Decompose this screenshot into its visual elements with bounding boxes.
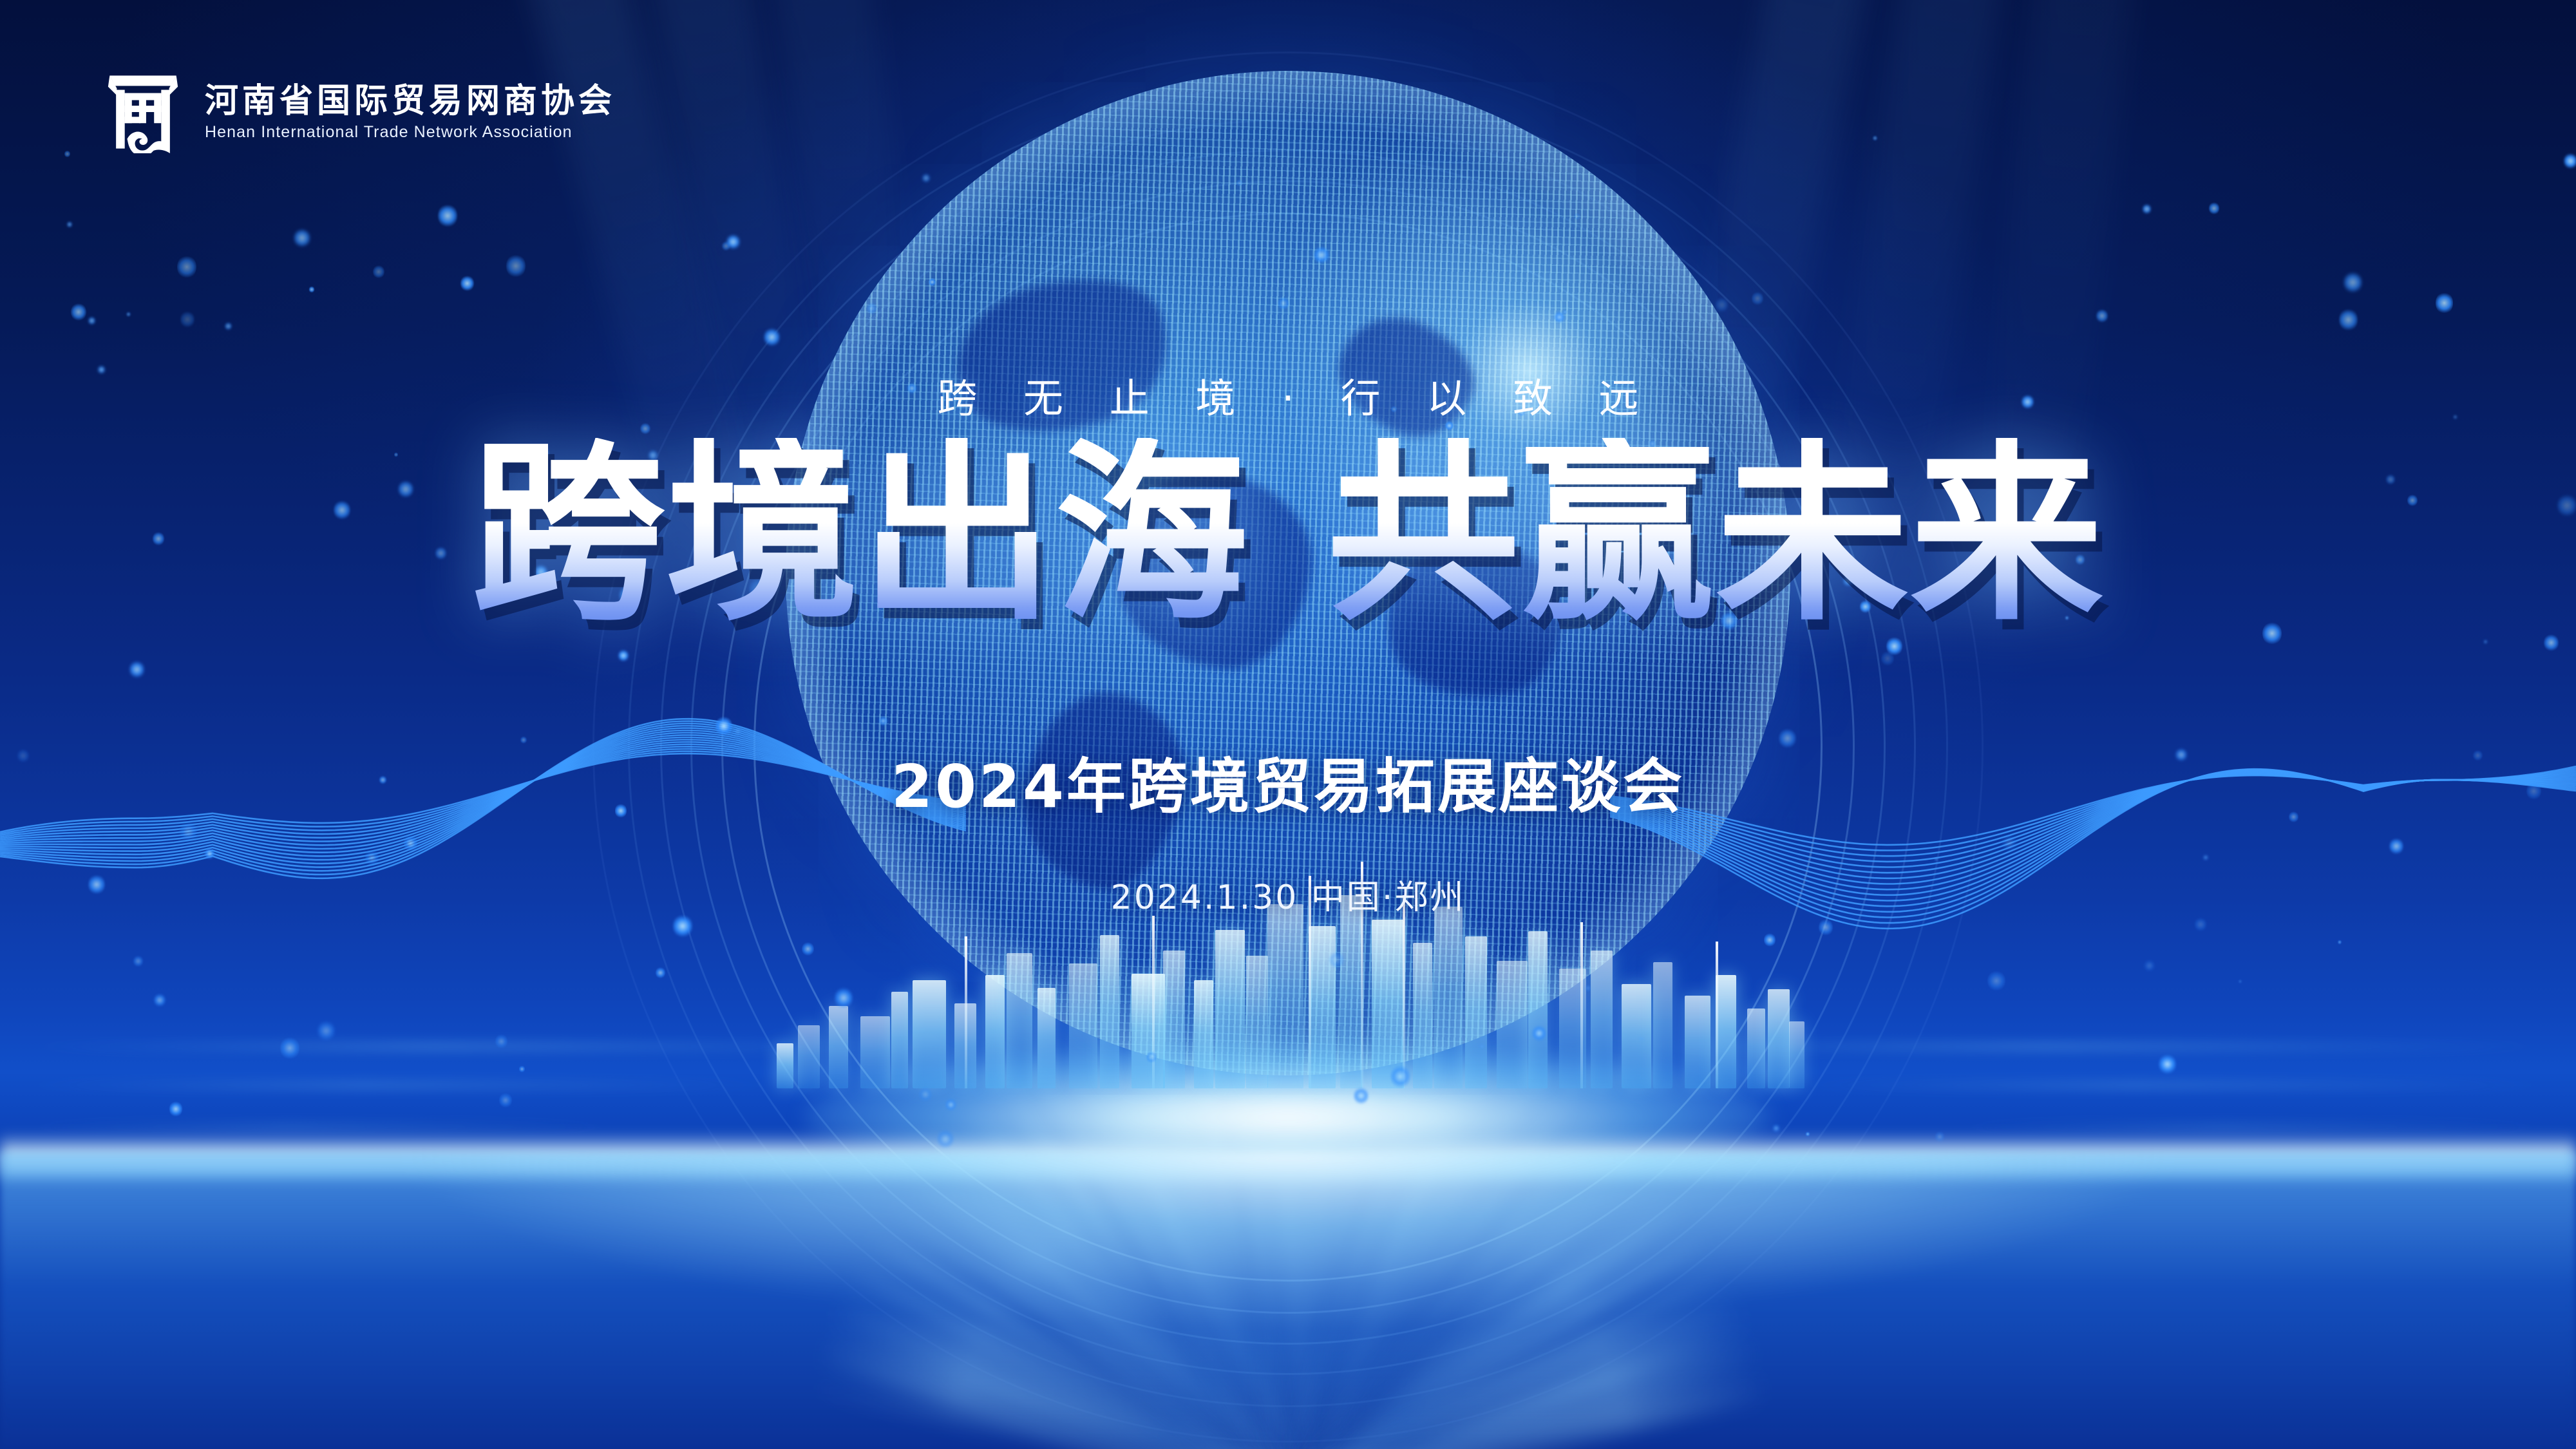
bokeh-particle [1532, 1025, 1546, 1042]
bokeh-particle [1779, 728, 1796, 749]
bokeh-particle [294, 228, 310, 249]
light-streak [1932, 1124, 2576, 1130]
logo-name-en: Henan International Trade Network Associ… [205, 124, 616, 140]
headline-part-1: 跨境出海 [471, 438, 1249, 631]
bokeh-particle [225, 322, 231, 330]
orbit-ring [660, 119, 1916, 1375]
logo-text-block: 河南省国际贸易网商协会 Henan International Trade Ne… [205, 84, 616, 140]
bokeh-particle [1935, 1131, 1944, 1142]
skyline-spire [1403, 895, 1405, 1088]
bokeh-particle [129, 660, 144, 679]
skyline-spire [1716, 942, 1718, 1088]
light-streak [1771, 1082, 2576, 1088]
bokeh-particle [133, 955, 143, 967]
bokeh-particle [1873, 135, 1877, 141]
light-ray [1220, 1095, 1296, 1449]
light-ray [1282, 1226, 1714, 1449]
skyline-building [1007, 953, 1032, 1088]
skyline-building [1559, 969, 1586, 1088]
bokeh-particle [438, 204, 457, 228]
bokeh-particle [922, 173, 930, 183]
headline-part-2: 共赢未来 [1327, 438, 2105, 631]
bokeh-particle [2096, 308, 2108, 323]
light-ray [961, 1105, 1298, 1449]
bokeh-particle [154, 993, 166, 1008]
light-ray [1273, 1095, 1519, 1449]
bokeh-particle [1390, 1064, 1410, 1089]
light-ray [903, 1156, 1301, 1449]
bokeh-particle [460, 275, 474, 292]
horizontal-light-streaks [0, 1005, 2576, 1275]
association-logo: 河南省国际贸易网商协会 Henan International Trade Ne… [103, 71, 616, 153]
light-ray [1273, 1126, 1648, 1449]
bokeh-particle [126, 312, 130, 317]
bokeh-particle [2338, 940, 2342, 945]
bokeh-particle [519, 1065, 526, 1073]
light-ray [1283, 1330, 1762, 1449]
bokeh-particle [722, 241, 731, 252]
light-ray [1277, 1095, 1399, 1449]
bokeh-particle [2344, 271, 2362, 294]
bokeh-particle [2436, 292, 2454, 314]
bokeh-particle [1764, 933, 1776, 947]
bokeh-particle [2239, 980, 2242, 983]
floor-glow [0, 1153, 2576, 1449]
light-streak [1610, 1043, 2576, 1050]
bokeh-particle [520, 736, 527, 744]
skyline-building [1340, 895, 1362, 1088]
skyline-building [1497, 961, 1528, 1088]
skyline-building [985, 975, 1005, 1088]
bokeh-particle [1563, 310, 1567, 315]
light-ray [1271, 1095, 1326, 1449]
bokeh-particle [656, 967, 665, 978]
light-ray [843, 1260, 1294, 1449]
skyline-building [1267, 904, 1303, 1088]
light-ray [1276, 1157, 1672, 1449]
bokeh-particle [2145, 960, 2154, 972]
skyline-building [1685, 996, 1710, 1088]
light-streak [0, 1082, 805, 1088]
skyline-building [1591, 951, 1613, 1088]
bokeh-particle [929, 278, 936, 287]
bokeh-particle [1716, 297, 1728, 313]
bokeh-particle [618, 649, 629, 662]
bokeh-particle [280, 1036, 299, 1060]
bokeh-particle [2204, 855, 2208, 860]
bokeh-particle [495, 1034, 507, 1048]
bokeh-particle [919, 1086, 932, 1103]
bokeh-particle [726, 234, 739, 250]
orbit-rings [464, 0, 2112, 1449]
wave-group-left [0, 618, 966, 1030]
light-streak [0, 1124, 644, 1130]
bokeh-particle [1752, 291, 1763, 306]
bokeh-particle [180, 310, 195, 328]
skyline-building [1716, 975, 1736, 1088]
bokeh-particle [373, 265, 384, 279]
light-streak [0, 1043, 966, 1050]
bokeh-particle [1935, 857, 1938, 862]
light-ray [1095, 1095, 1304, 1449]
bokeh-particle [1586, 985, 1591, 992]
skyline-building [1372, 920, 1404, 1088]
bokeh-particle [1354, 1086, 1368, 1105]
perspective-light-rays [0, 1095, 2576, 1449]
light-ray [808, 1379, 1289, 1449]
bokeh-particle [2564, 153, 2576, 169]
background-layers [0, 0, 2576, 1449]
bokeh-particle [1480, 1044, 1484, 1049]
skyline-building [1163, 951, 1185, 1088]
light-streak [0, 1166, 515, 1172]
skyline-building [1132, 974, 1165, 1088]
bokeh-particle [1278, 296, 1289, 310]
bokeh-particle [945, 1098, 956, 1112]
light-ray [885, 1197, 1292, 1449]
bokeh-particle [867, 303, 876, 314]
light-ray [1269, 1095, 1485, 1449]
bokeh-particle [1640, 1037, 1643, 1041]
light-ray [863, 1227, 1294, 1449]
bokeh-particle [2544, 634, 2558, 652]
orbit-ring [721, 180, 1855, 1314]
bokeh-particle [499, 1092, 513, 1109]
hero-date-location: 2024.1.30 中国·郑州 [0, 881, 2576, 914]
bokeh-particle [365, 849, 379, 867]
light-ray [814, 1329, 1294, 1449]
bokeh-particle [2002, 834, 2016, 852]
skyline-building [913, 980, 946, 1088]
light-ray [1032, 1095, 1295, 1449]
bokeh-particle [506, 254, 526, 278]
light-ray [1274, 1095, 1363, 1449]
light-ray [1136, 1095, 1302, 1449]
bokeh-particle [1329, 951, 1344, 969]
skyline-building [954, 1003, 976, 1088]
bokeh-particle [1773, 1124, 1779, 1132]
orbit-ring [690, 149, 1886, 1345]
bokeh-particle [937, 1128, 954, 1150]
bokeh-particle [2209, 202, 2220, 215]
wave-group-right [1610, 618, 2576, 1030]
skyline-building [798, 1025, 820, 1088]
logo-name-cn: 河南省国际贸易网商协会 [205, 84, 616, 118]
skyline-building [1465, 936, 1487, 1088]
light-ray [1280, 1095, 1435, 1449]
orbit-ring [592, 52, 1984, 1443]
bokeh-particle [2195, 917, 2206, 932]
light-ray [931, 1130, 1300, 1449]
skyline-building [1528, 931, 1548, 1088]
flowing-wave-lines [0, 618, 2576, 1030]
skyline-building [1789, 1021, 1804, 1088]
bokeh-particle [2339, 308, 2358, 331]
bokeh-particle [715, 715, 732, 737]
bokeh-particle [180, 821, 196, 842]
skyline-building [860, 1016, 890, 1088]
skyline-building [1069, 963, 1097, 1088]
bokeh-particle [673, 914, 692, 938]
bokeh-particle [169, 1101, 183, 1117]
skyline-building [1653, 962, 1672, 1088]
light-ray [1276, 1095, 1551, 1449]
bokeh-particle [802, 942, 814, 956]
bokeh-particle [764, 327, 780, 347]
bokeh-particle [1555, 311, 1565, 324]
skyline-building [1413, 943, 1432, 1088]
skyline-spire [1152, 916, 1155, 1088]
poster-canvas: 河南省国际贸易网商协会 Henan International Trade Ne… [0, 0, 2576, 1449]
hero-tagline: 跨 无 止 境 · 行 以 致 远 [0, 366, 2576, 424]
skyline-building [829, 1006, 848, 1088]
bokeh-particle [2143, 204, 2152, 214]
skyline-building [1434, 907, 1463, 1088]
bokeh-light-particles [0, 0, 2576, 1449]
bokeh-particle [2389, 837, 2403, 855]
skyline-building [1747, 1009, 1765, 1088]
orbit-ring [628, 87, 1948, 1407]
bokeh-particle [205, 848, 214, 860]
skyline-building [1622, 984, 1651, 1088]
skyline-building [1037, 988, 1056, 1088]
light-ray [995, 1095, 1296, 1449]
bokeh-particle [1574, 213, 1580, 220]
bokeh-particle [1987, 970, 2005, 992]
light-ray [1278, 1095, 1582, 1449]
bokeh-particle [404, 835, 417, 851]
horizon-line [0, 1133, 2576, 1179]
light-ray [1285, 1371, 1770, 1449]
bokeh-particle [1146, 1050, 1157, 1064]
skyline-building [777, 1043, 793, 1088]
bokeh-particle [88, 316, 95, 325]
bokeh-particle [1881, 650, 1894, 667]
bokeh-particle [879, 716, 887, 726]
hero-subtitle: 2024年跨境贸易拓展座谈会 [0, 757, 2576, 817]
bokeh-particle [2484, 639, 2487, 644]
skyline-building [1246, 956, 1268, 1088]
light-ray [1177, 1095, 1299, 1449]
bokeh-particle [1314, 245, 1329, 265]
bokeh-particle [71, 303, 86, 322]
skyline-building [1194, 980, 1213, 1088]
bokeh-particle [1806, 1132, 1810, 1136]
light-ray [1280, 1289, 1751, 1449]
light-ray [1056, 1095, 1305, 1449]
seal-emblem-icon [103, 71, 183, 153]
bokeh-particle [835, 987, 853, 1009]
bokeh-particle [735, 728, 741, 735]
skyline-building [1215, 930, 1245, 1088]
light-ray [1282, 1108, 1611, 1449]
light-streak [2061, 1166, 2576, 1172]
bokeh-particle [1236, 179, 1243, 187]
bokeh-particle [64, 150, 70, 158]
skyline-spire [1580, 922, 1583, 1088]
skyline-building [1309, 926, 1336, 1088]
light-ray [1284, 1264, 1731, 1449]
light-ray [827, 1293, 1294, 1449]
bokeh-particle [309, 286, 314, 293]
bokeh-particle [67, 221, 73, 228]
skyline-building [1768, 989, 1790, 1088]
light-ray [1280, 1191, 1695, 1449]
hero-headline: 跨境出海共赢未来 [0, 438, 2576, 631]
horizon-vanishing-glow [805, 1043, 1771, 1191]
bokeh-particle [177, 255, 196, 279]
skyline-building [1100, 935, 1119, 1088]
bokeh-particle [1819, 918, 1833, 936]
bokeh-particle [2159, 1054, 2176, 1075]
skyline-building [891, 992, 908, 1088]
bokeh-particle [317, 1020, 334, 1041]
light-ray [1247, 1095, 1308, 1449]
skyline-spire [965, 936, 967, 1088]
